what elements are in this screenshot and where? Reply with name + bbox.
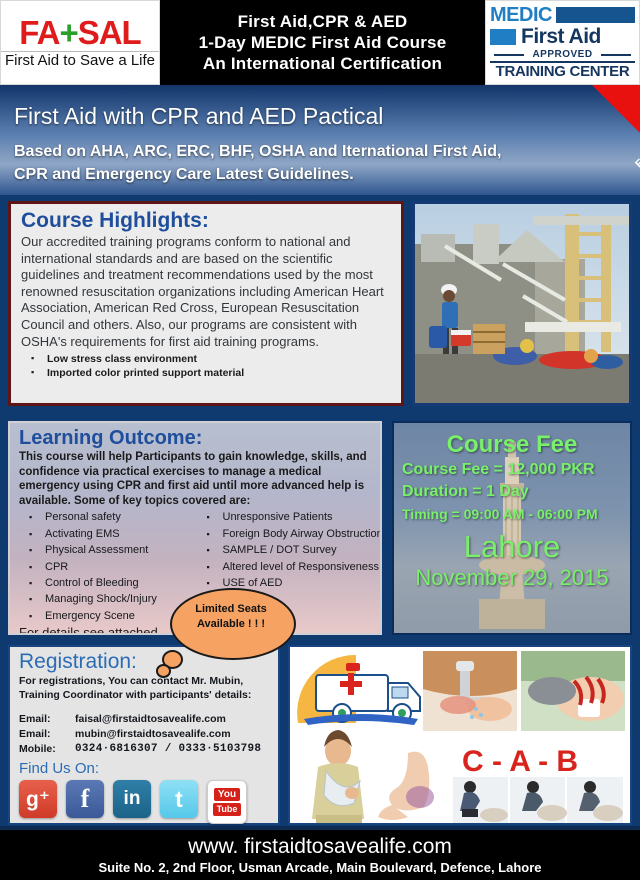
medic-logo-word: MEDIC — [490, 5, 552, 25]
youtube-icon[interactable]: You Tube — [207, 780, 247, 824]
cpr-sequence-photos — [453, 777, 623, 823]
learning-outcome-body: This course will help Participants to ga… — [19, 450, 374, 508]
training-site-photo-illustration — [415, 204, 629, 403]
contact-details: Email: faisal@firstaidtosavealife.com Em… — [19, 712, 271, 757]
course-city: Lahore — [394, 525, 630, 565]
medic-logo-row-1: MEDIC — [490, 5, 635, 25]
contact-value-email[interactable]: mubin@firstaidtosavealife.com — [75, 727, 231, 742]
registration-panel: Registration: For registrations, You can… — [8, 645, 280, 825]
google-plus-icon[interactable]: g⁺ — [19, 780, 57, 818]
course-highlights-panel: Course Highlights: Our accredited traini… — [8, 201, 404, 406]
course-highlights-title: Course Highlights: — [21, 209, 393, 233]
page-subtitle-line-1: Based on AHA, ARC, ERC, BHF, OSHA and It… — [14, 140, 501, 163]
contact-row-email-2: Email: mubin@firstaidtosavealife.com — [19, 727, 271, 742]
rule-left — [494, 54, 524, 56]
registration-subtitle: For registrations, You can contact Mr. M… — [19, 674, 271, 702]
bubble-text-line-2: Available ! ! ! — [170, 617, 292, 632]
linkedin-icon[interactable]: in — [113, 780, 151, 818]
learning-outcome-title: Learning Outcome: — [19, 427, 374, 450]
contact-row-email-1: Email: faisal@firstaidtosavealife.com — [19, 712, 271, 727]
contact-label: Mobile: — [19, 742, 75, 757]
faisal-logo-part2: SAL — [78, 14, 141, 51]
course-fee-text-block: Course Fee Course Fee = 12,000 PKR Durat… — [394, 423, 630, 591]
faisal-logo-wordmark: FA+SAL — [19, 16, 140, 49]
course-duration: Duration = 1 Day — [394, 481, 630, 503]
wound-washing-photo — [423, 651, 517, 731]
bleeding-control-photo — [521, 651, 625, 731]
bottom-row: Registration: For registrations, You can… — [0, 641, 640, 829]
course-highlights-row: Course Highlights: Our accredited traini… — [0, 197, 640, 413]
medic-logo-firstaid: First Aid — [521, 26, 601, 47]
faisal-logo-part1: FA — [19, 14, 59, 51]
title-band: First Aid with CPR and AED Pactical Base… — [0, 85, 640, 195]
faisal-logo-tagline: First Aid to Save a Life — [1, 51, 159, 69]
page-title: First Aid with CPR and AED Pactical — [14, 103, 383, 130]
header-bar: FA+SAL First Aid to Save a Life First Ai… — [0, 0, 640, 85]
medic-logo-row-2: First Aid — [490, 26, 635, 47]
course-highlights-bullet-list: Low stress class environment Imported co… — [21, 352, 393, 380]
list-item: CPR — [19, 559, 197, 575]
faisal-logo: FA+SAL First Aid to Save a Life — [0, 0, 160, 85]
find-us-on-label: Find Us On: — [19, 760, 271, 778]
training-site-photo — [412, 201, 632, 406]
page-subtitle-line-2: CPR and Emergency Care Latest Guidelines… — [14, 163, 501, 186]
list-item: Imported color printed support material — [21, 366, 393, 380]
registration-subtitle-line-1: For registrations, You can contact Mr. M… — [19, 674, 271, 688]
registration-subtitle-line-2: Training Coordinator with participants' … — [19, 688, 271, 702]
course-highlights-body: Our accredited training programs conform… — [21, 234, 393, 350]
course-fee-panel: Course Fee Course Fee = 12,000 PKR Durat… — [392, 421, 632, 635]
bubble-text: Limited Seats Available ! ! ! — [170, 602, 292, 632]
mid-row: Learning Outcome: This course will help … — [0, 416, 640, 640]
rule-right — [601, 54, 631, 56]
list-item: Activating EMS — [19, 526, 197, 542]
header-title-line-3: An International Certification — [203, 53, 442, 74]
header-title-line-2: 1-Day MEDIC First Aid Course — [199, 32, 447, 53]
page-subtitle: Based on AHA, ARC, ERC, BHF, OSHA and It… — [14, 140, 501, 186]
first-aid-collage: C - A - B — [288, 645, 632, 825]
facebook-icon[interactable]: f — [66, 780, 104, 818]
course-date: November 29, 2015 — [394, 565, 630, 591]
open-enrollment-ribbon: OPEN ENROLLMENT — [522, 85, 640, 175]
website-url[interactable]: www. firstaidtosavealife.com — [188, 834, 452, 859]
header-title-block: First Aid,CPR & AED 1-Day MEDIC First Ai… — [160, 0, 485, 85]
social-links: g⁺ f in t You Tube — [19, 780, 271, 824]
contact-value-email[interactable]: faisal@firstaidtosavealife.com — [75, 712, 226, 727]
medic-logo-square — [490, 29, 516, 45]
topics-list-right: Unresponsive Patients Foreign Body Airwa… — [197, 509, 375, 591]
contact-label: Email: — [19, 712, 75, 727]
medic-logo-bar — [556, 7, 635, 23]
cab-label: C - A - B — [462, 745, 578, 778]
ribbon-triangle — [574, 85, 640, 175]
contact-row-mobile: Mobile: 0324·6816307 / 0333·5103798 — [19, 742, 271, 757]
course-timing: Timing = 09:00 AM - 06:00 PM — [394, 503, 630, 525]
green-cross-icon: + — [59, 14, 77, 51]
list-item: Low stress class environment — [21, 352, 393, 366]
collage-illustration: C - A - B — [290, 647, 630, 823]
medic-logo-approved-row: APPROVED — [490, 49, 635, 60]
poster-canvas: FA+SAL First Aid to Save a Life First Ai… — [0, 0, 640, 880]
contact-label: Email: — [19, 727, 75, 742]
header-title-line-1: First Aid,CPR & AED — [238, 11, 408, 32]
twitter-icon[interactable]: t — [160, 780, 198, 818]
list-item: Physical Assessment — [19, 542, 197, 558]
medic-logo-approved: APPROVED — [532, 49, 592, 60]
bubble-text-line-1: Limited Seats — [170, 602, 292, 617]
list-item: SAMPLE / DOT Survey — [197, 542, 375, 558]
contact-value-mobile[interactable]: 0324·6816307 / 0333·5103798 — [75, 742, 261, 757]
office-address: Suite No. 2, 2nd Floor, Usman Arcade, Ma… — [98, 859, 541, 876]
limited-seats-bubble: Limited Seats Available ! ! ! — [170, 588, 292, 662]
course-fee-title: Course Fee — [394, 423, 630, 459]
list-item: Foreign Body Airway Obstruction — [197, 526, 375, 542]
list-item: Personal safety — [19, 509, 197, 525]
medic-logo-training-center: TRAINING CENTER — [490, 61, 635, 80]
course-fee-amount: Course Fee = 12,000 PKR — [394, 459, 630, 481]
list-item: Unresponsive Patients — [197, 509, 375, 525]
youtube-icon-top: You — [214, 788, 240, 801]
youtube-icon-bottom: Tube — [213, 803, 242, 816]
list-item: Altered level of Responsiveness — [197, 559, 375, 575]
footer-bar: www. firstaidtosavealife.com Suite No. 2… — [0, 830, 640, 880]
bubble-dot-small — [156, 664, 171, 678]
medic-first-aid-logo: MEDIC First Aid APPROVED TRAINING CENTER — [485, 0, 640, 85]
